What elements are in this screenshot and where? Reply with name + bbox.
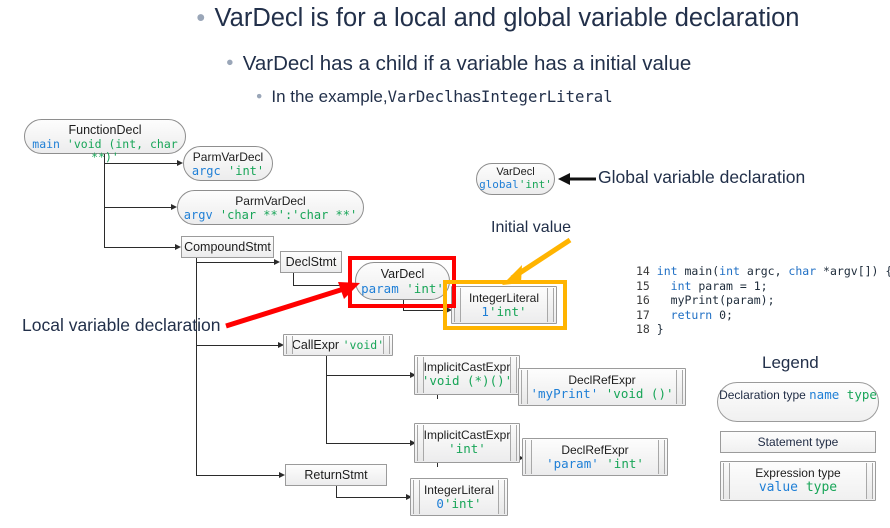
edge-returnstmt-intlit [336,497,407,498]
code-token: argc [747,264,775,278]
node-functiondecl-name: main [32,137,60,151]
annotation-local-variable-declaration: Local variable declaration [22,315,220,336]
node-declrefexpr-param-value: 'param' [546,456,599,471]
node-vardecl-global-name: global [479,178,519,191]
code-token: } [657,322,664,336]
code-line-number: 16 [636,293,657,307]
local-variable-arrow-icon [222,276,362,330]
node-declrefexpr-myprint-value: 'myPrint' [531,386,599,401]
code-token: []) { [858,264,890,278]
global-arrow-icon [558,166,598,192]
node-compoundstmt[interactable]: CompoundStmt [181,236,274,258]
code-token: return [671,308,713,322]
code-token: int [671,279,692,293]
node-implicitcastexpr-int-type: 'int' [415,442,519,457]
node-implicitcastexpr-void-type: 'void (*)()' [415,374,519,389]
bullet-level-3-pre: In the example, [271,87,387,107]
code-token: param [698,279,733,293]
node-integerliteral-0-value: 0 [436,496,444,511]
node-parmvardecl-argv-type: 'char **':'char **' [220,208,357,222]
code-line-number: 14 [636,264,657,278]
bullet-level-2: ● VarDecl has a child if a variable has … [226,52,691,76]
legend-declaration-name: name [809,387,839,402]
code-token [657,279,671,293]
edge-functiondecl-trunk [104,152,105,247]
bullet-marker-icon: ● [256,91,262,102]
annotation-initial-value: Initial value [491,219,571,237]
node-parmvardecl-argv-name: argv [184,208,213,222]
node-declrefexpr-myprint-detail: 'myPrint' 'void ()' [519,387,685,402]
node-parmvardecl-argc-name: argc [192,164,221,178]
edge-returnstmt-drop [336,485,337,497]
code-line-number: 18 [636,322,657,336]
code-line-number: 15 [636,279,657,293]
node-declrefexpr-param-title: DeclRefExpr [523,443,667,457]
node-integerliteral-0-detail: 0'int' [411,497,507,512]
edge-compound-trunk [196,258,197,475]
edge-callexpr-castvoid [326,375,411,376]
node-declrefexpr-myprint-type: 'void ()' [606,386,674,401]
node-declstmt[interactable]: DeclStmt [280,251,342,273]
legend-expression-type: Expression type value type [720,461,876,501]
code-line-number: 17 [636,308,657,322]
node-parmvardecl-argc[interactable]: ParmVarDecl argc 'int' [183,146,273,181]
node-declrefexpr-param-detail: 'param' 'int' [523,457,667,472]
node-functiondecl[interactable]: FunctionDecl main 'void (int, char **)' [24,119,186,154]
node-integerliteral-0-title: IntegerLiteral [411,483,507,497]
node-implicitcastexpr-void-title: ImplicitCastExpr [415,360,519,374]
node-returnstmt[interactable]: ReturnStmt [285,464,387,486]
bullet-level-3-mono-integerliteral: IntegerLiteral [481,87,613,106]
node-functiondecl-detail: main 'void (int, char **)' [25,138,185,165]
legend-title: Legend [762,353,819,373]
node-vardecl-global[interactable]: VarDecl global'int' [476,163,555,195]
legend-expression-type-word: type [806,480,837,495]
node-functiondecl-title: FunctionDecl [25,123,185,138]
node-declrefexpr-myprint-title: DeclRefExpr [519,373,685,387]
node-vardecl-global-detail: global'int' [477,179,554,192]
node-callexpr-title: CallExpr [292,338,339,352]
edge-compound-callexpr [196,345,279,346]
code-token [740,264,747,278]
code-token [657,308,671,322]
node-declrefexpr-param-type: 'int' [606,456,644,471]
edge-compound-declstmt [196,262,275,263]
node-implicitcastexpr-int[interactable]: ImplicitCastExpr 'int' [414,423,520,463]
legend-declaration-title: Declaration type [719,388,806,402]
highlight-local-variable-declaration [348,256,456,308]
node-implicitcastexpr-int-title: ImplicitCastExpr [415,428,519,442]
bullet-marker-icon: ● [196,10,206,26]
code-line: 15 int param = 1; [636,279,890,294]
node-integerliteral-0-type: 'int' [444,496,482,511]
code-token: 0; [712,308,733,322]
edge-compound-returnstmt [196,475,280,476]
node-vardecl-global-type: 'int' [519,178,552,191]
edge-functiondecl-compound [104,247,176,248]
legend-expression-value: value [759,480,798,495]
edge-callexpr-castint [326,443,411,444]
code-token: = 1; [733,279,768,293]
node-callexpr-detail: CallExpr 'void' [284,338,392,353]
code-line: 16 myPrint(param); [636,293,890,308]
bullet-level-1: ● VarDecl is for a local and global vari… [196,4,799,33]
code-token: , [775,264,789,278]
node-callexpr-type: 'void' [343,338,385,352]
edge-functiondecl-argv [104,207,172,208]
node-declstmt-title: DeclStmt [281,255,341,270]
node-implicitcastexpr-void[interactable]: ImplicitCastExpr 'void (*)()' [414,355,520,395]
code-token: char [788,264,816,278]
bullet-level-3-mono-vardecl: VarDecl [388,87,454,106]
bullet-level-3: ● In the example, VarDecl has IntegerLit… [256,87,613,107]
node-functiondecl-type: 'void (int, char **)' [67,137,178,165]
code-token: main [685,264,713,278]
code-line: 14 int main(int argc, char *argv[]) { [636,264,890,279]
edge-callexpr-trunk [326,355,327,443]
legend-expression-title: Expression type [721,466,875,480]
node-parmvardecl-argv-detail: argv 'char **':'char **' [178,208,363,222]
node-parmvardecl-argc-detail: argc 'int' [184,164,272,178]
bullet-level-3-mid: has [453,87,480,107]
code-token: argv [830,264,858,278]
code-line: 17 return 0; [636,308,890,323]
node-compoundstmt-title: CompoundStmt [182,240,273,255]
code-token: int [657,264,678,278]
initial-value-arrow-icon [488,236,578,288]
node-returnstmt-title: ReturnStmt [286,468,386,483]
edge-vardecl-intlit [403,310,447,311]
legend-expression-detail: value type [721,480,875,496]
node-parmvardecl-argc-type: 'int' [228,164,264,178]
node-declrefexpr-param[interactable]: DeclRefExpr 'param' 'int' [522,438,668,476]
source-code-block: 14 int main(int argc, char *argv[]) {15 … [636,264,890,337]
code-token: ); [761,293,775,307]
node-declrefexpr-myprint[interactable]: DeclRefExpr 'myPrint' 'void ()' [518,368,686,406]
legend-declaration-type-word: type [847,387,877,402]
bullet-level-2-text: VarDecl has a child if a variable has a … [243,52,692,76]
bullet-marker-icon: ● [226,56,234,69]
legend-declaration-type: Declaration type name type [717,382,879,422]
code-token: param [726,293,761,307]
code-token [678,264,685,278]
node-parmvardecl-argv-title: ParmVarDecl [178,194,363,208]
code-token: ( [719,293,726,307]
node-callexpr[interactable]: CallExpr 'void' [283,334,393,356]
bullet-level-1-text: VarDecl is for a local and global variab… [215,4,800,33]
code-line: 18 } [636,322,890,337]
code-token: int [719,264,740,278]
node-parmvardecl-argc-title: ParmVarDecl [184,150,272,164]
code-token: * [816,264,830,278]
node-parmvardecl-argv[interactable]: ParmVarDecl argv 'char **':'char **' [177,190,364,225]
code-token [657,293,671,307]
node-integerliteral-0[interactable]: IntegerLiteral 0'int' [410,478,508,516]
slide-canvas: ● VarDecl is for a local and global vari… [0,0,890,528]
legend-statement-type: Statement type [720,431,876,453]
annotation-global-variable-declaration: Global variable declaration [598,167,805,188]
legend-declaration-detail: name type [809,387,877,402]
code-token: myPrint [671,293,719,307]
legend-statement-title: Statement type [758,435,839,449]
